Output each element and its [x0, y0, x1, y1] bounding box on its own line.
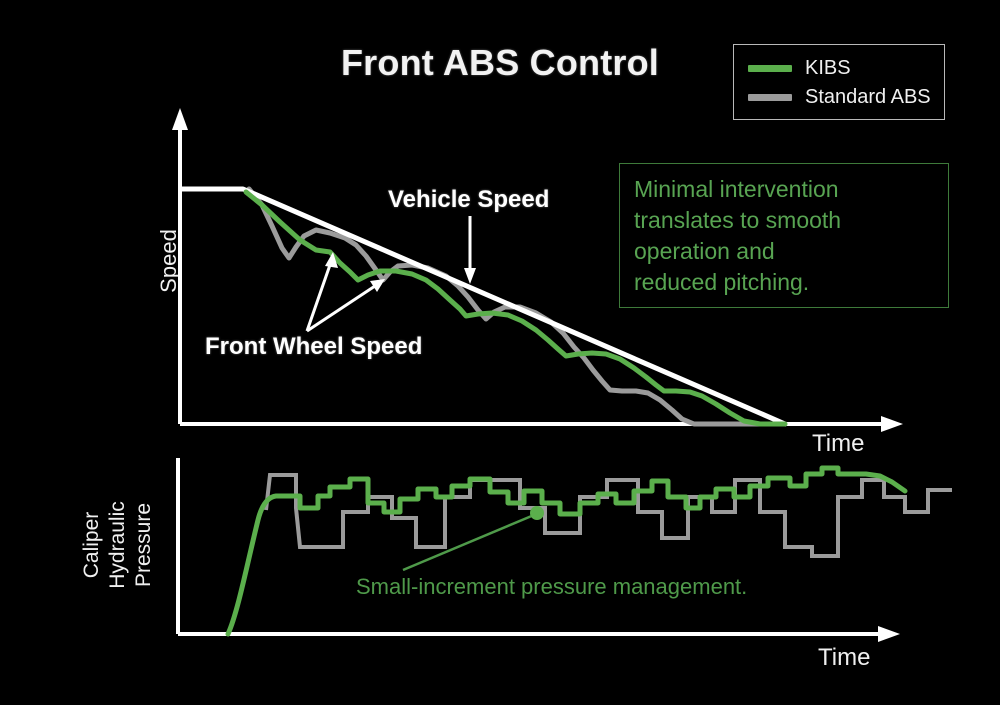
front-wheel-arrow-2-head	[370, 279, 385, 292]
vehicle-speed-arrowhead	[464, 268, 476, 284]
small-increment-marker-dot	[530, 506, 544, 520]
chart-vector-layer	[0, 0, 1000, 705]
diagram-canvas: Front ABS Control KIBS Standard ABS Mini…	[0, 0, 1000, 705]
small-increment-leader-line	[403, 515, 534, 570]
top-chart-y-axis-arrowhead	[172, 108, 188, 130]
front-wheel-arrow-1-line	[307, 262, 331, 331]
top-chart-x-axis-arrowhead	[881, 416, 903, 432]
top-chart-axes	[172, 108, 903, 432]
bottom-chart-annotation-leader	[403, 506, 544, 570]
bottom-chart-x-axis-arrowhead	[878, 626, 900, 642]
top-chart-annotation-arrows	[0, 0, 476, 331]
front-wheel-arrow-2-line	[307, 286, 375, 331]
arrow-helper-unused	[0, 0, 307, 331]
bottom-chart-kibs-trace	[228, 468, 905, 634]
